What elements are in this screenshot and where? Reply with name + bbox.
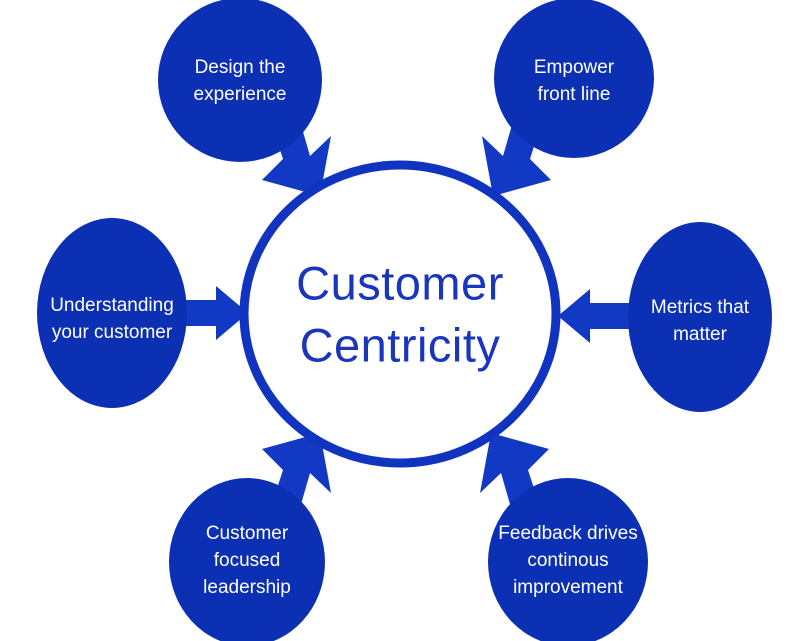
center-label-line-1: Customer bbox=[296, 256, 504, 309]
node-circle-shape bbox=[494, 0, 654, 158]
node-circle-shape bbox=[158, 0, 322, 162]
center-circle-shape bbox=[244, 165, 556, 463]
node-label-line-2: matter bbox=[673, 324, 728, 345]
node-label-line-2: front line bbox=[538, 84, 611, 105]
node-label-line-1: Empower bbox=[534, 57, 615, 78]
node-label-line-2: focused bbox=[214, 550, 281, 571]
customer-centricity-diagram: Customer Centricity Design the experienc… bbox=[0, 0, 800, 641]
node-label-line-3: improvement bbox=[513, 577, 624, 598]
node-label-line-1: Customer bbox=[206, 523, 289, 544]
node-label-line-1: Metrics that bbox=[651, 297, 750, 318]
diagram-canvas: Customer Centricity Design the experienc… bbox=[0, 0, 800, 641]
arrow-metrics-that-matter-to-center bbox=[558, 289, 632, 343]
node-feedback-drives-continous-improvement[interactable]: Feedback drives continous improvement bbox=[488, 478, 648, 641]
node-design-the-experience[interactable]: Design the experience bbox=[158, 0, 322, 162]
node-empower-front-line[interactable]: Empower front line bbox=[494, 0, 654, 158]
node-customer-focused-leadership[interactable]: Customer focused leadership bbox=[169, 478, 325, 641]
node-label-line-3: leadership bbox=[203, 577, 291, 598]
node-label-line-2: continous bbox=[527, 550, 608, 571]
node-label-line-1: Design the bbox=[195, 57, 286, 78]
node-label-line-2: experience bbox=[194, 84, 287, 105]
center-label-line-2: Centricity bbox=[300, 318, 501, 371]
node-label-line-2: your customer bbox=[52, 322, 173, 343]
node-label-line-1: Feedback drives bbox=[498, 523, 637, 544]
center-node[interactable]: Customer Centricity bbox=[244, 165, 556, 463]
node-label-line-1: Understanding bbox=[50, 295, 174, 316]
node-metrics-that-matter[interactable]: Metrics that matter bbox=[628, 222, 772, 412]
node-understanding-your-customer[interactable]: Understanding your customer bbox=[37, 218, 187, 408]
